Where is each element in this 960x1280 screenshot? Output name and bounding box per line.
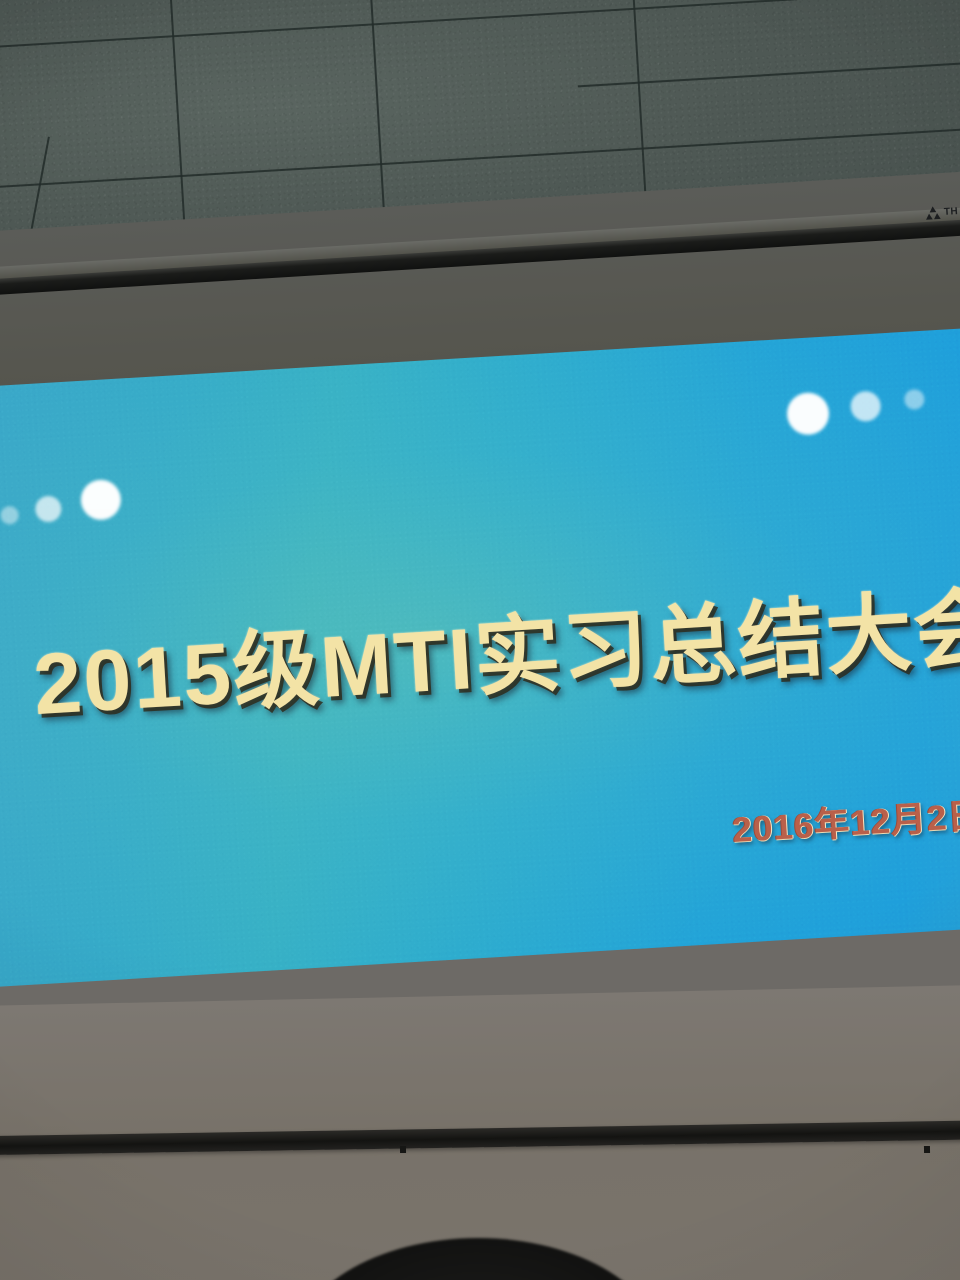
photo-scene: TH 2015级MTI实习总结大会 2016年12月2日	[0, 0, 960, 1280]
slide-surface: 2015级MTI实习总结大会 2016年12月2日	[0, 326, 960, 987]
rail-bracket	[400, 1146, 406, 1153]
screen-vignette	[0, 326, 960, 987]
projection-screen: 2015级MTI实习总结大会 2016年12月2日	[0, 326, 960, 987]
mitsubishi-logo: TH	[924, 204, 958, 221]
three-diamonds-icon	[924, 205, 941, 221]
rail-bracket	[924, 1146, 930, 1153]
projector-brand-label: TH	[944, 206, 959, 217]
